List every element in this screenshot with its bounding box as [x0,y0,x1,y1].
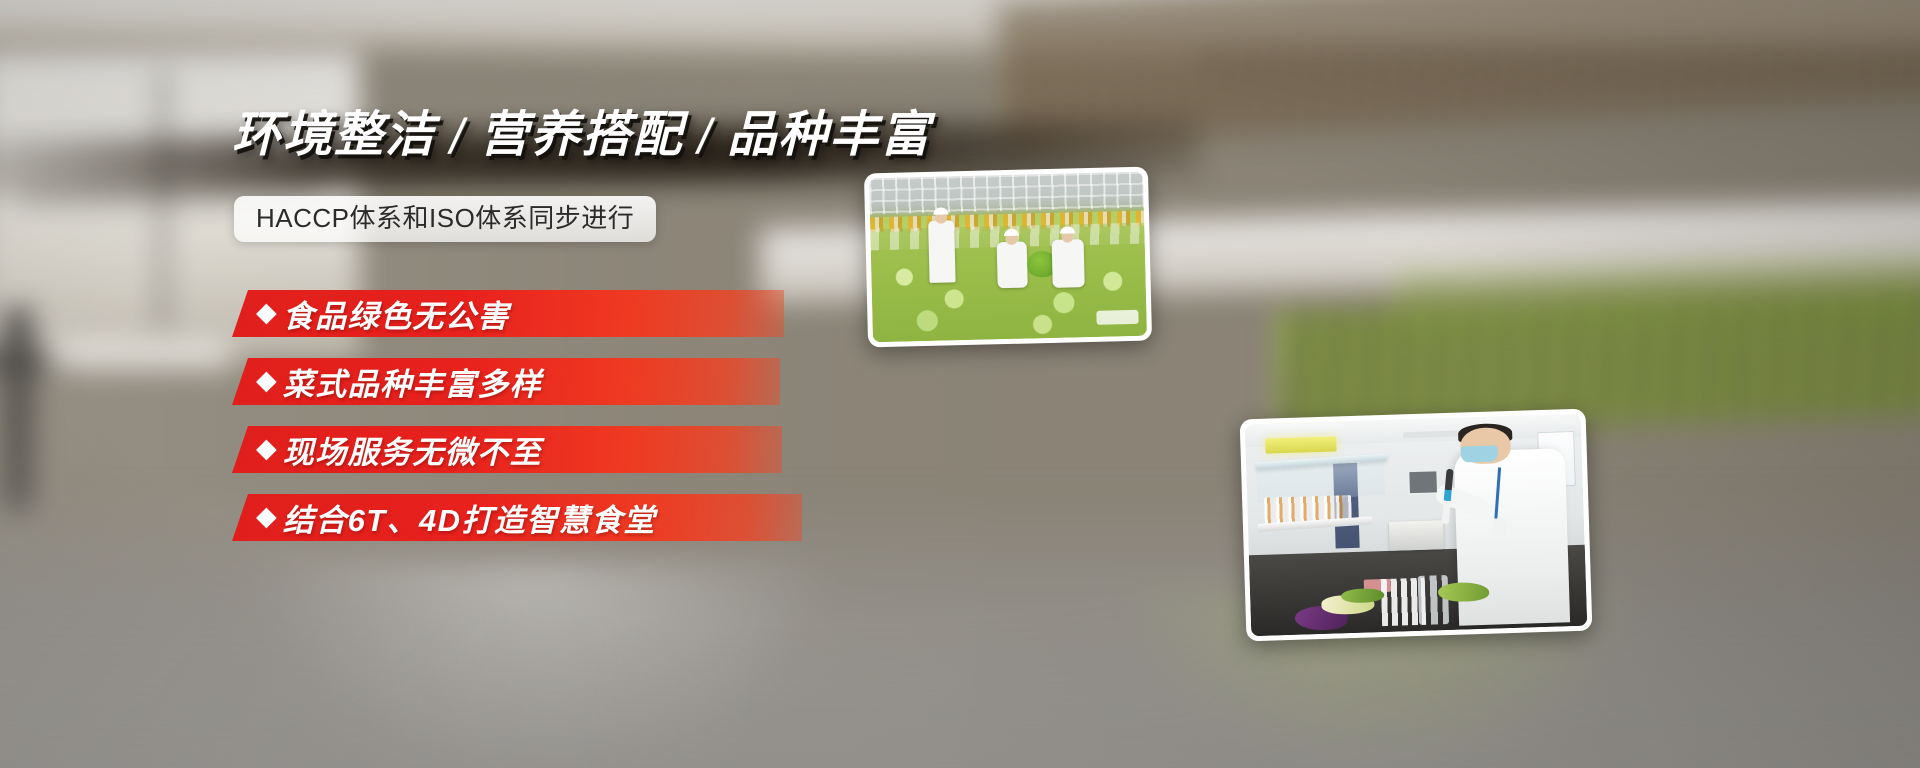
subtitle-text: HACCP体系和ISO体系同步进行 [256,203,634,233]
lab-ceiling-lamp [1265,436,1336,453]
feature-bar-4-label: 结合6T、4D打造智慧食堂 [283,495,656,540]
photo-card-greenhouse [864,167,1152,348]
headline-separator-1: / [450,109,466,165]
photo-laboratory-image [1245,414,1587,636]
headline-segment-1: 环境整洁 [232,108,436,162]
inspector-standing [928,221,956,284]
diamond-bullet-icon: ◆ [256,503,277,530]
photo-card-laboratory [1240,409,1593,642]
feature-bar-2[interactable]: ◆ 菜式品种丰富多样 [232,358,780,405]
feature-list: ◆ 食品绿色无公害 ◆ 菜式品种丰富多样 ◆ 现场服务无微不至 ◆ 结合6T、4… [232,290,802,562]
lab-instrument [1389,520,1444,551]
diamond-bullet-icon: ◆ [256,367,277,394]
feature-bar-3-label: 现场服务无微不至 [283,427,542,472]
feature-bar-4[interactable]: ◆ 结合6T、4D打造智慧食堂 [232,494,802,541]
headline-segment-2: 营养搭配 [480,108,684,162]
feature-bar-2-label: 菜式品种丰富多样 [283,359,542,404]
diamond-bullet-icon: ◆ [256,435,277,462]
greenhouse-roof-ribs [869,172,1144,215]
inspector-crouching-left [997,242,1028,289]
inspector-cap [1004,229,1019,236]
subtitle-pill: HACCP体系和ISO体系同步进行 [234,196,656,242]
technician-face-mask [1461,445,1498,462]
headline: 环境整洁/营养搭配/品种丰富 [232,95,931,166]
inspector-crouching-right [1051,239,1084,288]
headline-segment-3: 品种丰富 [727,108,931,162]
headline-separator-2: / [698,109,714,165]
inspector-cap [933,208,948,215]
feature-bar-1-label: 食品绿色无公害 [283,291,510,336]
inspector-cap [1060,226,1075,233]
flask-row [1418,575,1450,625]
diamond-bullet-icon: ◆ [256,299,277,326]
photo-watermark [1096,310,1138,325]
lab-pass-through-window [1408,469,1440,495]
banner-root: 环境整洁/营养搭配/品种丰富 HACCP体系和ISO体系同步进行 ◆ 食品绿色无… [0,0,1920,768]
technician-badge [1493,518,1507,535]
feature-bar-1[interactable]: ◆ 食品绿色无公害 [232,290,784,337]
photo-greenhouse-image [869,172,1147,343]
feature-bar-3[interactable]: ◆ 现场服务无微不至 [232,426,782,473]
